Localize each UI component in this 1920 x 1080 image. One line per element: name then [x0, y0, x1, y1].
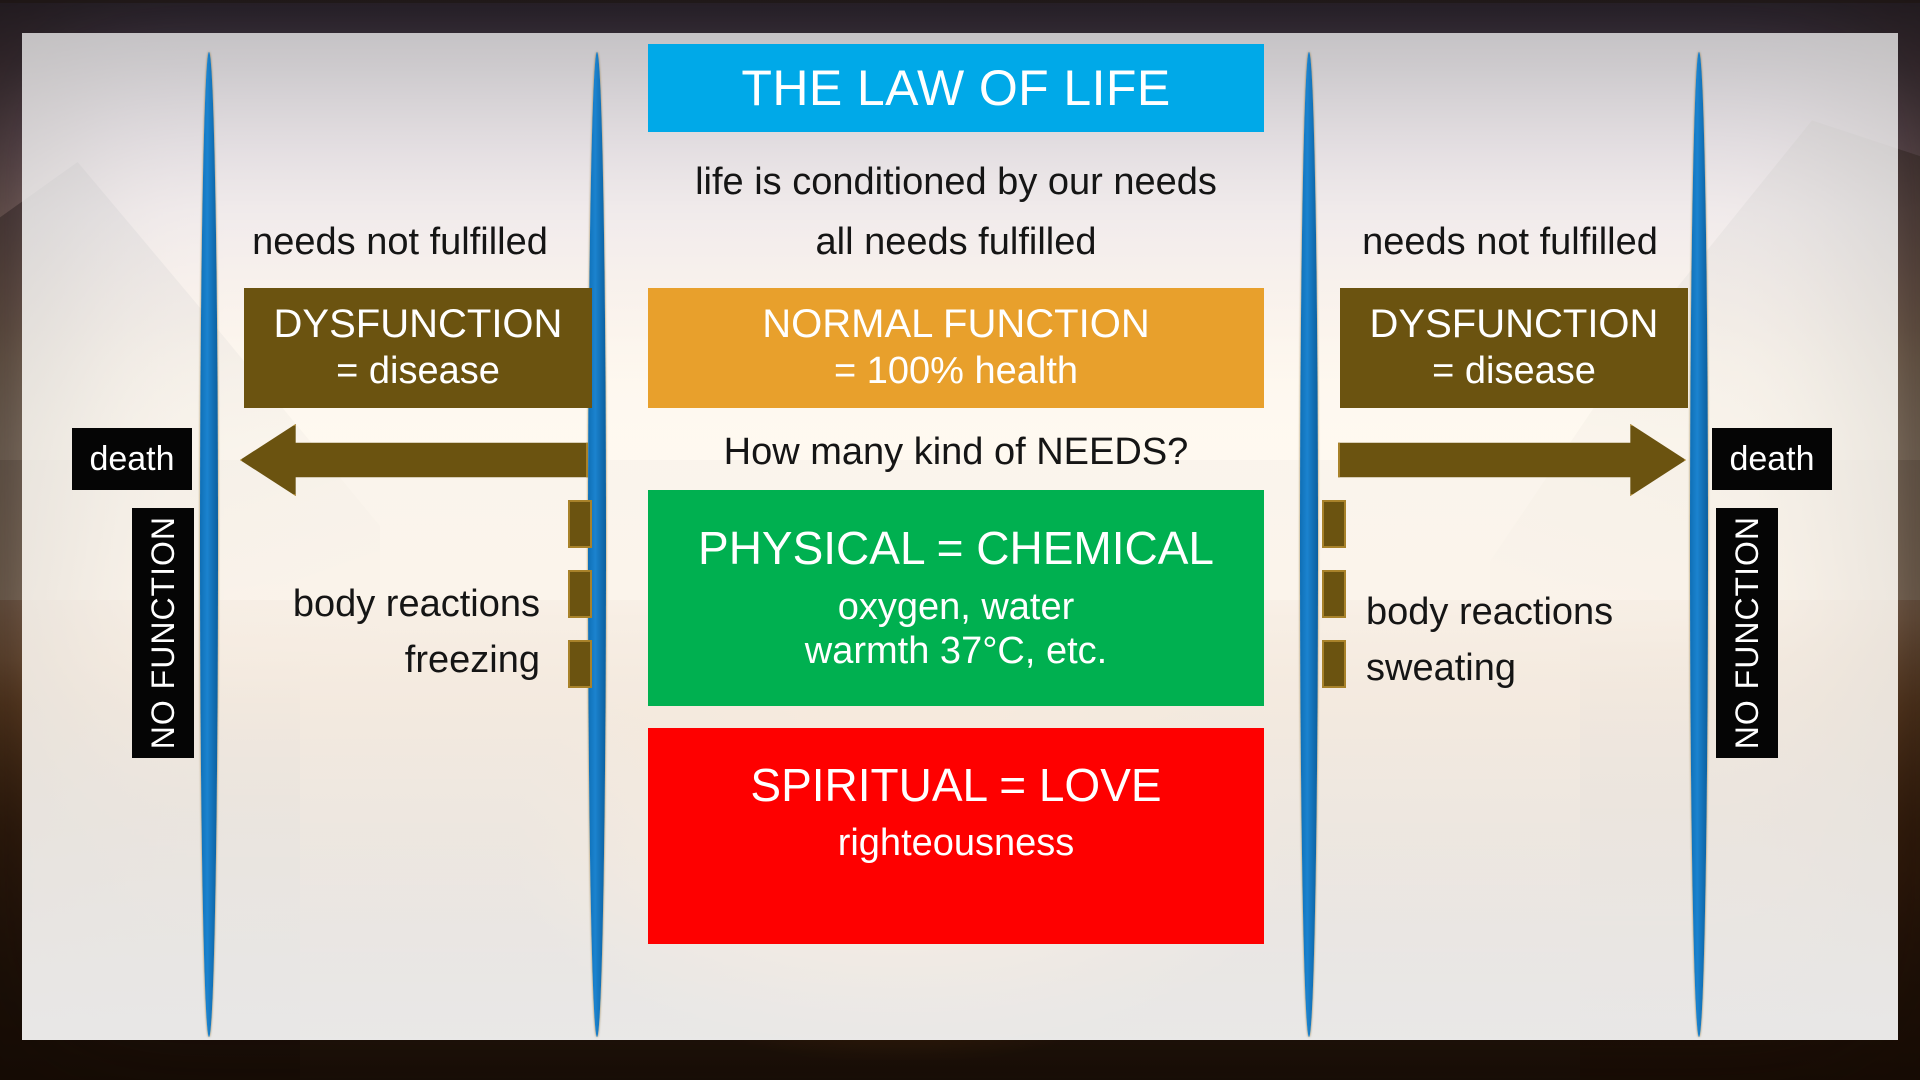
- right-dysfunction-subtitle: = disease: [1432, 352, 1596, 392]
- left-tick-3: [568, 640, 592, 688]
- spiritual-love-title: SPIRITUAL = LOVE: [750, 762, 1161, 810]
- spiritual-love-box: SPIRITUAL = LOVE righteousness: [648, 728, 1264, 944]
- normal-function-subtitle: = 100% health: [834, 352, 1078, 392]
- right-death-tag: death: [1712, 428, 1832, 490]
- page-title: THE LAW OF LIFE: [741, 62, 1170, 114]
- physical-chemical-title: PHYSICAL = CHEMICAL: [698, 525, 1214, 573]
- right-reactions-line-2: sweating: [1366, 648, 1716, 690]
- left-dysfunction-subtitle: = disease: [336, 352, 500, 392]
- right-tick-2: [1322, 570, 1346, 618]
- divider-lens-left-outer: [200, 52, 218, 1037]
- left-no-function-label: NO FUNCTION: [145, 516, 182, 749]
- subtitle-line-2: all needs fulfilled: [648, 222, 1264, 264]
- spiritual-love-subtitle: righteousness: [838, 824, 1075, 864]
- right-dysfunction-box: DYSFUNCTION = disease: [1340, 288, 1688, 408]
- physical-chemical-line-2: warmth 37°C, etc.: [805, 632, 1107, 672]
- right-tick-3: [1322, 640, 1346, 688]
- right-needs-label: needs not fulfilled: [1320, 222, 1700, 264]
- right-no-function-label: NO FUNCTION: [1729, 516, 1766, 749]
- left-death-tag: death: [72, 428, 192, 490]
- physical-chemical-box: PHYSICAL = CHEMICAL oxygen, water warmth…: [648, 490, 1264, 706]
- left-no-function-tag: NO FUNCTION: [132, 508, 194, 758]
- right-reactions-line-1: body reactions: [1366, 592, 1716, 634]
- right-tick-1: [1322, 500, 1346, 548]
- normal-function-title: NORMAL FUNCTION: [762, 304, 1149, 346]
- right-no-function-tag: NO FUNCTION: [1716, 508, 1778, 758]
- subtitle-line-1: life is conditioned by our needs: [648, 162, 1264, 204]
- left-tick-2: [568, 570, 592, 618]
- frame-top-edge: [0, 0, 1920, 3]
- left-dysfunction-box: DYSFUNCTION = disease: [244, 288, 592, 408]
- left-dysfunction-title: DYSFUNCTION: [274, 304, 563, 346]
- left-reactions-line-1: body reactions: [190, 584, 540, 626]
- right-dysfunction-title: DYSFUNCTION: [1370, 304, 1659, 346]
- physical-chemical-line-1: oxygen, water: [838, 588, 1075, 628]
- left-needs-label: needs not fulfilled: [210, 222, 590, 264]
- left-reactions-line-2: freezing: [190, 640, 540, 682]
- left-death-label: death: [89, 440, 174, 479]
- divider-lens-right-outer: [1690, 52, 1708, 1037]
- normal-function-box: NORMAL FUNCTION = 100% health: [648, 288, 1264, 408]
- slide-canvas: THE LAW OF LIFE life is conditioned by o…: [0, 0, 1920, 1080]
- right-death-label: death: [1729, 440, 1814, 479]
- left-tick-1: [568, 500, 592, 548]
- title-box: THE LAW OF LIFE: [648, 44, 1264, 132]
- divider-lens-right-inner: [1300, 52, 1318, 1037]
- needs-question: How many kind of NEEDS?: [648, 432, 1264, 474]
